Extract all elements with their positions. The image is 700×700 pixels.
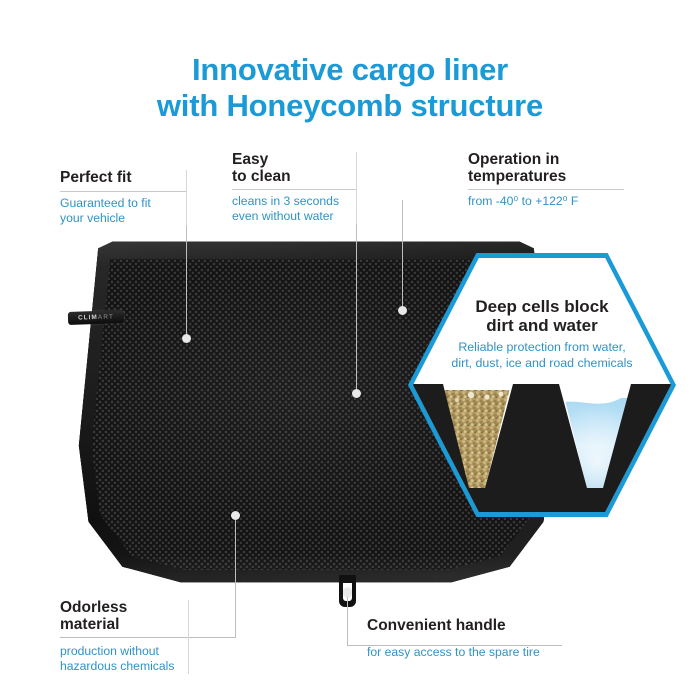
infographic-page: Innovative cargo liner with Honeycomb st… [0,0,700,700]
leader-dot-perfect-fit [182,334,191,343]
callout-odorless-material: Odorless material production without haz… [60,600,189,674]
brand-logo-text-primary: CLIM [78,314,98,322]
callout-convenient-handle-subtitle: for easy access to the spare tire [367,645,587,660]
callout-odorless-material-heading: Odorless material [60,600,188,633]
page-title: Innovative cargo liner with Honeycomb st… [0,52,700,124]
callout-convenient-handle: Convenient handle for easy access to the… [367,618,587,660]
callout-operation-temperatures-subtitle: from -40⁰ to +122⁰ F [468,194,624,209]
callout-convenient-handle-heading: Convenient handle [367,618,587,635]
leader-line-convenient-handle [347,592,348,645]
page-title-line-1: Innovative cargo liner [0,52,700,88]
leader-dot-operation-temperatures [398,306,407,315]
callout-easy-to-clean-subtitle: cleans in 3 seconds even without water [232,194,356,224]
callout-easy-to-clean-divider [232,189,356,190]
leader-dot-convenient-handle [343,588,352,597]
callout-odorless-material-divider [60,637,188,638]
leader-dot-odorless-material [231,511,240,520]
brand-logo-badge: CLIMART [68,310,124,325]
callout-operation-temperatures-divider [468,189,624,190]
deep-cells-hexagon-callout: Deep cells block dirt and water Reliable… [408,253,676,517]
page-title-line-2: with Honeycomb structure [0,88,700,124]
leader-line-odorless-material [235,515,236,637]
brand-logo-text-accent: ART [98,313,114,321]
cross-section-diagram [413,384,671,512]
callout-perfect-fit-divider [60,191,186,192]
leader-dot-easy-to-clean [352,389,361,398]
leader-line-operation-temperatures [402,200,403,310]
callout-operation-temperatures-heading: Operation in temperatures [468,152,624,185]
callout-perfect-fit-heading: Perfect fit [60,170,186,187]
hexagon-content: Deep cells block dirt and water Reliable… [413,258,671,512]
callout-convenient-handle-divider [367,639,587,640]
callout-perfect-fit-subtitle: Guaranteed to fit your vehicle [60,196,186,226]
leader-line-easy-to-clean [356,200,357,392]
callout-odorless-material-subtitle: production without hazardous chemicals [60,644,188,674]
callout-perfect-fit: Perfect fit Guaranteed to fit your vehic… [60,170,187,226]
callout-operation-temperatures: Operation in temperatures from -40⁰ to +… [468,152,624,209]
callout-easy-to-clean: Easy to clean cleans in 3 seconds even w… [232,152,357,224]
brand-logo-text: CLIMART [78,313,114,321]
callout-easy-to-clean-heading: Easy to clean [232,152,356,185]
hexagon-subtitle: Reliable protection from water, dirt, du… [413,340,671,371]
